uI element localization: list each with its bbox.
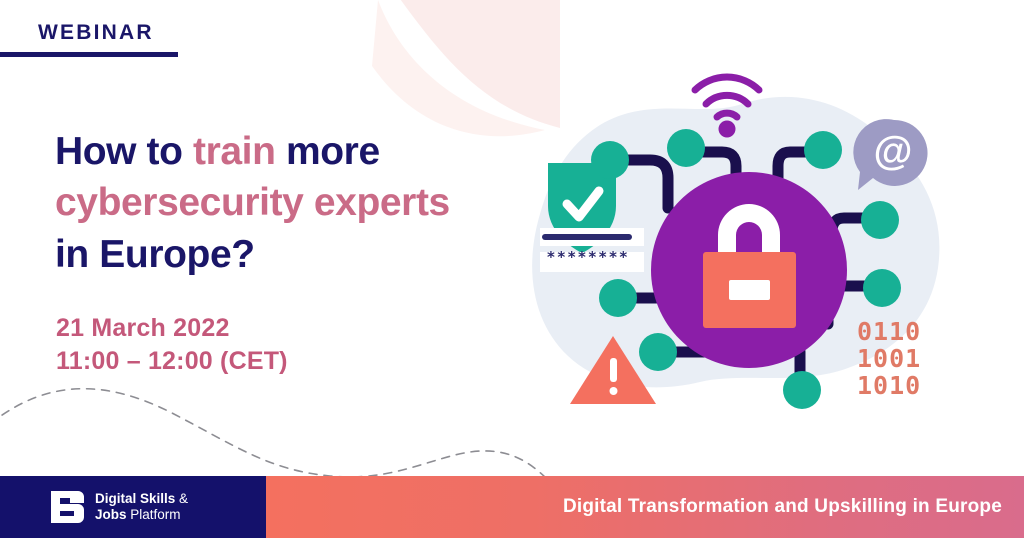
brand-platform: Platform (127, 507, 181, 522)
password-mask-text: ******** (547, 248, 630, 266)
brand-jobs: Jobs (95, 507, 127, 522)
brand-digital-skills: Digital Skills (95, 491, 175, 506)
headline-segment-train: train (193, 130, 276, 173)
page-title: How to train more cybersecurity experts … (55, 126, 555, 280)
headline-line-2: cybersecurity experts (55, 177, 555, 228)
webinar-label: WEBINAR (38, 22, 300, 43)
wifi-icon (695, 77, 759, 117)
headline-segment-how-to: How to (55, 130, 193, 173)
at-speech-bubble-icon: @ (853, 119, 927, 190)
headline-line-1: How to train more (55, 126, 555, 177)
node-bottom-left (639, 333, 677, 371)
webinar-banner: WEBINAR How to train more cybersecurity … (0, 0, 1024, 538)
brand-line-2: Jobs Platform (95, 507, 188, 523)
headline-segment-more: more (276, 130, 380, 173)
node-top-right (804, 131, 842, 169)
node-right-lower (863, 269, 901, 307)
event-date: 21 March 2022 (56, 312, 288, 345)
brand-name: Digital Skills & Jobs Platform (95, 491, 188, 524)
brand-ampersand: & (175, 491, 188, 506)
tagline-block: Digital Transformation and Upskilling in… (266, 476, 1024, 538)
cybersecurity-illustration: @ (500, 30, 1024, 450)
eyebrow-block: WEBINAR (0, 22, 300, 57)
at-symbol-glyph: @ (873, 129, 912, 173)
binary-row-3: 1010 (857, 372, 921, 399)
wifi-dot-icon (719, 121, 736, 138)
footer-bar: Digital Skills & Jobs Platform Digital T… (0, 476, 1024, 538)
event-time: 11:00 – 12:00 (CET) (56, 345, 288, 378)
node-top-left (591, 141, 629, 179)
node-bottom-mid (783, 371, 821, 409)
eyebrow-underline-rule (0, 52, 178, 57)
binary-row-1: 0110 (857, 318, 921, 345)
brand-block: Digital Skills & Jobs Platform (0, 476, 266, 538)
node-right-upper (861, 201, 899, 239)
footer-tagline: Digital Transformation and Upskilling in… (563, 496, 1002, 518)
node-left-mid (599, 279, 637, 317)
dashed-wave-line (0, 389, 548, 480)
node-top-mid (667, 129, 705, 167)
event-datetime-block: 21 March 2022 11:00 – 12:00 (CET) (56, 312, 288, 378)
binary-code-text: 0110 1001 1010 (857, 318, 921, 399)
headline-line-3: in Europe? (55, 229, 555, 280)
brand-line-1: Digital Skills & (95, 491, 188, 507)
binary-row-2: 1001 (857, 345, 921, 372)
digital-skills-logo-icon (48, 488, 84, 526)
